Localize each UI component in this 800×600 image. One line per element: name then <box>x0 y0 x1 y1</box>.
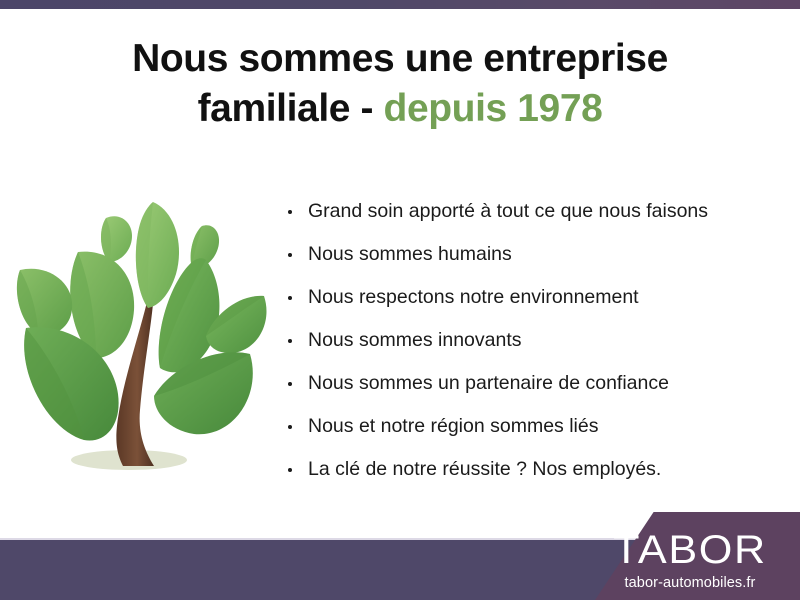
list-item-label: Nous sommes un partenaire de confiance <box>308 372 669 394</box>
tree-foliage <box>17 202 267 441</box>
bullet-icon <box>288 468 292 472</box>
top-accent-bar <box>0 0 800 9</box>
bullet-icon <box>288 210 292 214</box>
list-item-label: Nous sommes humains <box>308 243 512 265</box>
bullet-icon <box>288 382 292 386</box>
list-item: Nous sommes un partenaire de confiance <box>286 362 766 405</box>
list-item-label: Nous sommes innovants <box>308 329 522 351</box>
headline-familiale: familiale <box>198 87 350 130</box>
list-item: Grand soin apporté à tout ce que nous fa… <box>286 190 766 233</box>
brand-wordmark: TABOR <box>582 530 798 570</box>
bullet-icon <box>288 339 292 343</box>
page-title: Nous sommes une entreprise familiale - d… <box>60 34 740 134</box>
bullet-icon <box>288 253 292 257</box>
headline-dash: - <box>350 87 383 130</box>
list-item-label: Grand soin apporté à tout ce que nous fa… <box>308 200 708 222</box>
tree-illustration <box>8 182 280 494</box>
brand-logo: TABOR tabor-automobiles.fr <box>590 530 790 591</box>
list-item-label: Nous et notre région sommes liés <box>308 415 598 437</box>
list-item: La clé de notre réussite ? Nos employés. <box>286 448 766 491</box>
list-item: Nous sommes innovants <box>286 319 766 362</box>
brand-website-url: tabor-automobiles.fr <box>590 576 790 591</box>
headline-line-1: Nous sommes une entreprise <box>60 34 740 84</box>
list-item: Nous sommes humains <box>286 233 766 276</box>
list-item: Nous et notre région sommes liés <box>286 405 766 448</box>
benefits-list: Grand soin apporté à tout ce que nous fa… <box>286 190 766 491</box>
list-item-label: Nous respectons notre environnement <box>308 286 639 308</box>
list-item: Nous respectons notre environnement <box>286 276 766 319</box>
list-item-label: La clé de notre réussite ? Nos employés. <box>308 458 661 480</box>
bullet-icon <box>288 296 292 300</box>
bullet-icon <box>288 425 292 429</box>
headline-line-2: familiale - depuis 1978 <box>60 84 740 134</box>
headline-since-year: depuis 1978 <box>384 87 603 130</box>
slide-canvas: Nous sommes une entreprise familiale - d… <box>0 0 800 600</box>
